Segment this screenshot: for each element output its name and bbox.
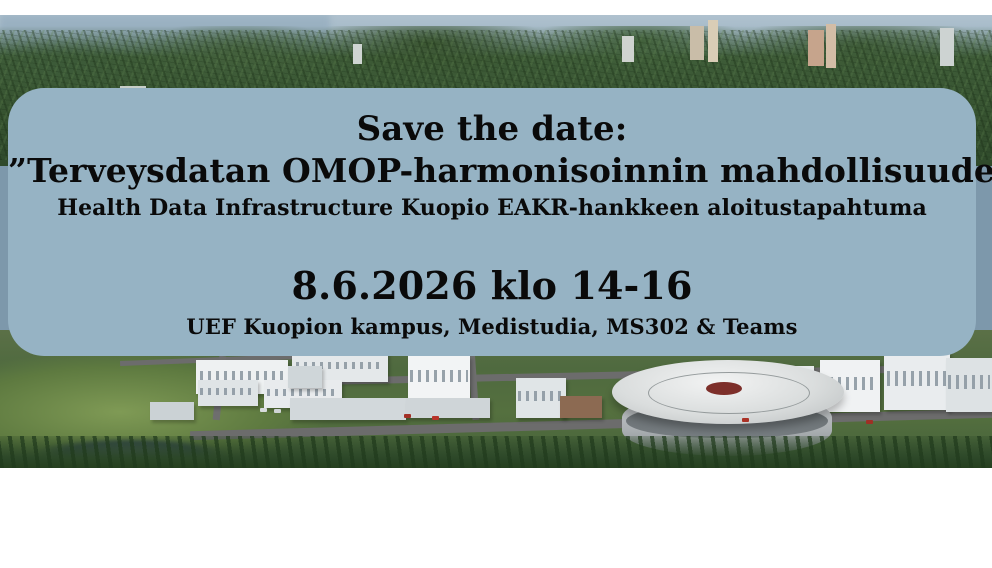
campus-building xyxy=(406,398,490,418)
poster-canvas: Save the date: ”Terveysdatan OMOP-harmon… xyxy=(0,0,992,568)
car xyxy=(274,409,281,413)
campus-building xyxy=(288,366,322,388)
event-location: UEF Kuopion kampus, Medistudia, MS302 & … xyxy=(8,315,976,339)
logo-bar: ★ ★ ★ ★ ★ ★ ★ ★ ★ ★ ★ ★ Euroopan unionin… xyxy=(0,468,992,568)
car xyxy=(742,418,749,422)
campus-building xyxy=(150,402,194,420)
tree-line xyxy=(0,436,992,468)
save-the-date-heading: Save the date: xyxy=(8,110,976,148)
announcement-panel: Save the date: ”Terveysdatan OMOP-harmon… xyxy=(8,88,976,356)
ridge-building xyxy=(708,20,718,62)
event-date-time: 8.6.2026 klo 14-16 xyxy=(8,265,976,307)
campus-building xyxy=(198,380,258,406)
car xyxy=(866,420,873,424)
campus-building xyxy=(290,398,406,420)
ridge-building xyxy=(940,28,954,66)
campus-building xyxy=(408,356,470,400)
city-building xyxy=(946,358,992,412)
city-building xyxy=(560,396,602,418)
event-title: ”Terveysdatan OMOP-harmonisoinnin mahdol… xyxy=(8,153,976,190)
ridge-building xyxy=(808,30,824,66)
arena-roof-marking xyxy=(706,382,742,395)
ridge-building xyxy=(690,26,704,60)
ridge-building xyxy=(622,36,634,62)
ridge-building xyxy=(353,44,362,64)
car xyxy=(260,408,267,412)
top-white-margin xyxy=(0,0,992,15)
event-subtitle: Health Data Infrastructure Kuopio EAKR-h… xyxy=(8,196,976,221)
car xyxy=(432,416,439,420)
ridge-building xyxy=(826,24,836,68)
city-building xyxy=(884,352,950,410)
city-building xyxy=(516,378,566,418)
car xyxy=(404,414,411,418)
